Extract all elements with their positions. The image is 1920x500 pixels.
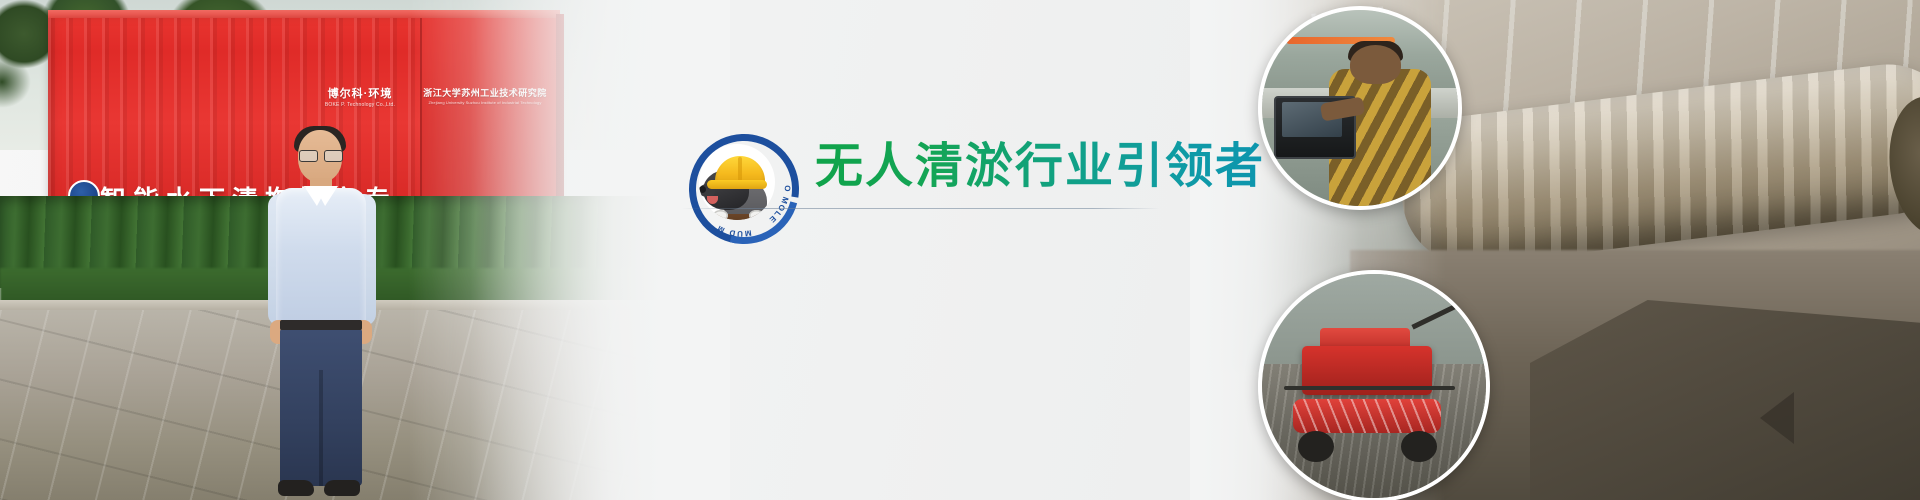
divider (682, 208, 1160, 209)
hero-banner: 博尔科·环境 BOKE P. Technology Co.,Ltd. 浙江大学苏… (0, 0, 1920, 500)
person-belt (280, 320, 362, 330)
robo-mole-logo: O MOLE MUD M (685, 130, 795, 240)
play-arrow-icon (1760, 392, 1794, 444)
center-content: O MOLE MUD M 无人清淤行业引领者 (660, 0, 1280, 500)
robot-frame (1284, 386, 1454, 390)
page-title: 无人清淤行业引领者 (815, 126, 1265, 196)
container-partner-cn: 浙江大学苏州工业技术研究院 (423, 88, 547, 98)
svg-text:O MOLE: O MOLE (767, 185, 792, 225)
operator-head (1350, 45, 1401, 84)
circle-photo-robot (1258, 270, 1490, 500)
robot-wheel-right (1401, 431, 1437, 462)
robot-auger-head (1293, 399, 1441, 433)
container-partner-logo: 浙江大学苏州工业技术研究院 Zhejiang University Suzhou… (420, 88, 550, 105)
robot-wheel-left (1298, 431, 1334, 462)
left-photo: 博尔科·环境 BOKE P. Technology Co.,Ltd. 浙江大学苏… (0, 0, 660, 500)
svg-text:MUD M: MUD M (715, 223, 752, 238)
person-shirt (276, 188, 366, 328)
container-brand-en: BOKE P. Technology Co.,Ltd. (300, 102, 420, 108)
container-partner-en: Zhejiang University Suzhou Institute of … (420, 100, 550, 105)
container-brand-logo: 博尔科·环境 BOKE P. Technology Co.,Ltd. (300, 88, 420, 108)
person-shoe-left (278, 480, 314, 496)
circle-photo-operator (1258, 6, 1462, 210)
person-shoe-right (324, 480, 360, 496)
logo-arc-text-icon: O MOLE MUD M (685, 130, 795, 240)
container-brand-cn: 博尔科·环境 (328, 88, 393, 100)
person-photo (262, 130, 382, 500)
glasses-icon (298, 150, 342, 160)
person-trousers (280, 326, 362, 486)
